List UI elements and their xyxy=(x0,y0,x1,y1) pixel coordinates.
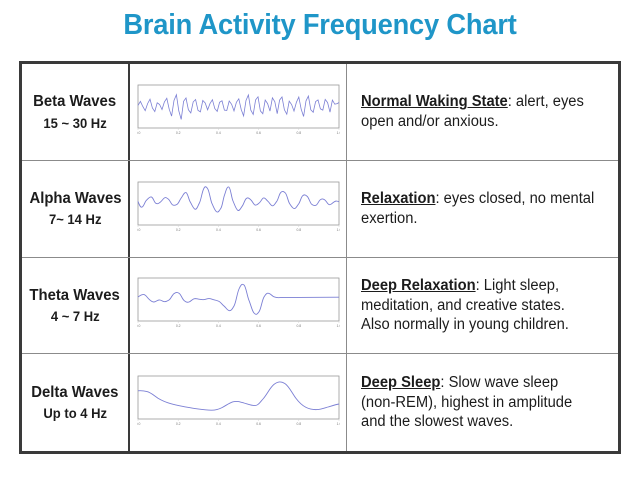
svg-text:0.0: 0.0 xyxy=(137,131,140,135)
svg-text:0.0: 0.0 xyxy=(137,324,140,328)
svg-text:0.8: 0.8 xyxy=(296,131,301,135)
svg-text:0.4: 0.4 xyxy=(216,422,221,426)
waveform-plot-alpha: 0.0 0.2 0.4 0.6 0.8 1.0 xyxy=(137,181,340,237)
svg-text:0.6: 0.6 xyxy=(256,324,261,328)
svg-text:0.8: 0.8 xyxy=(296,324,301,328)
svg-text:1.0: 1.0 xyxy=(336,228,339,232)
waveform-svg: 0.0 0.2 0.4 0.6 0.8 1.0 xyxy=(137,84,340,140)
table-row: Delta Waves Up to 4 Hz 0.0 xyxy=(22,354,618,451)
svg-text:0.6: 0.6 xyxy=(256,228,261,232)
description-lead: Deep Sleep xyxy=(361,374,440,391)
svg-text:0.2: 0.2 xyxy=(175,228,180,232)
description-text: Normal Waking State: alert, eyes open an… xyxy=(361,92,596,131)
description-text: Deep Relaxation: Light sleep, meditation… xyxy=(361,276,596,335)
svg-text:0.2: 0.2 xyxy=(175,422,180,426)
description-cell: Relaxation: eyes closed, no mental exert… xyxy=(347,161,618,257)
wave-name-cell: Alpha Waves 7~ 14 Hz xyxy=(22,161,130,257)
plot-frame xyxy=(138,278,339,321)
plot-xtick-labels: 0.0 0.2 0.4 0.6 0.8 1.0 xyxy=(137,131,340,135)
wave-frequency-label: 15 ~ 30 Hz xyxy=(43,115,106,131)
plot-xtick-labels: 0.0 0.2 0.4 0.6 0.8 1.0 xyxy=(137,324,340,328)
svg-text:0.2: 0.2 xyxy=(175,131,180,135)
svg-text:1.0: 1.0 xyxy=(336,324,339,328)
wave-name-cell: Delta Waves Up to 4 Hz xyxy=(22,354,130,451)
table-row: Alpha Waves 7~ 14 Hz 0.0 xyxy=(22,161,618,258)
description-cell: Deep Sleep: Slow wave sleep (non-REM), h… xyxy=(347,354,618,451)
waveform-plot-cell: 0.0 0.2 0.4 0.6 0.8 1.0 xyxy=(130,354,347,451)
svg-text:0.6: 0.6 xyxy=(256,131,261,135)
wave-frequency-label: 7~ 14 Hz xyxy=(49,211,101,227)
description-lead: Normal Waking State xyxy=(361,93,508,110)
svg-text:0.6: 0.6 xyxy=(256,422,261,426)
wave-frequency-label: Up to 4 Hz xyxy=(43,405,107,421)
plot-frame xyxy=(138,182,339,225)
svg-text:0.4: 0.4 xyxy=(216,131,221,135)
waveform-plot-beta: 0.0 0.2 0.4 0.6 0.8 1.0 xyxy=(137,84,340,140)
svg-text:1.0: 1.0 xyxy=(336,131,339,135)
brain-activity-table: Beta Waves 15 ~ 30 Hz 0.0 xyxy=(19,61,621,454)
wave-frequency-label: 4 ~ 7 Hz xyxy=(51,308,100,324)
waveform-plot-theta: 0.0 0.2 0.4 0.6 0.8 1.0 xyxy=(137,277,340,333)
svg-text:0.4: 0.4 xyxy=(216,324,221,328)
waveform-svg: 0.0 0.2 0.4 0.6 0.8 1.0 xyxy=(137,375,340,431)
wave-name-cell: Beta Waves 15 ~ 30 Hz xyxy=(22,64,130,160)
wave-name-label: Theta Waves xyxy=(30,287,120,305)
description-text: Deep Sleep: Slow wave sleep (non-REM), h… xyxy=(361,373,596,432)
table-row: Theta Waves 4 ~ 7 Hz 0.0 xyxy=(22,258,618,355)
description-lead: Relaxation xyxy=(361,190,435,207)
svg-text:1.0: 1.0 xyxy=(336,422,339,426)
waveform-plot-cell: 0.0 0.2 0.4 0.6 0.8 1.0 xyxy=(130,258,347,354)
page-title: Brain Activity Frequency Chart xyxy=(19,0,621,40)
description-cell: Deep Relaxation: Light sleep, meditation… xyxy=(347,258,618,354)
plot-frame xyxy=(138,376,339,419)
waveform-svg: 0.0 0.2 0.4 0.6 0.8 1.0 xyxy=(137,277,340,333)
svg-text:0.8: 0.8 xyxy=(296,422,301,426)
wave-name-label: Delta Waves xyxy=(31,384,118,402)
waveform-plot-cell: 0.0 0.2 0.4 0.6 0.8 1.0 xyxy=(130,64,347,160)
plot-xtick-labels: 0.0 0.2 0.4 0.6 0.8 1.0 xyxy=(137,228,340,232)
svg-text:0.4: 0.4 xyxy=(216,228,221,232)
plot-frame xyxy=(138,85,339,128)
svg-text:0.0: 0.0 xyxy=(137,422,140,426)
waveform-plot-delta: 0.0 0.2 0.4 0.6 0.8 1.0 xyxy=(137,375,340,431)
svg-text:0.2: 0.2 xyxy=(175,324,180,328)
table-row: Beta Waves 15 ~ 30 Hz 0.0 xyxy=(22,64,618,161)
description-cell: Normal Waking State: alert, eyes open an… xyxy=(347,64,618,160)
waveform-plot-cell: 0.0 0.2 0.4 0.6 0.8 1.0 xyxy=(130,161,347,257)
description-lead: Deep Relaxation xyxy=(361,277,476,294)
plot-xtick-labels: 0.0 0.2 0.4 0.6 0.8 1.0 xyxy=(137,422,340,426)
svg-text:0.8: 0.8 xyxy=(296,228,301,232)
svg-text:0.0: 0.0 xyxy=(137,228,140,232)
wave-name-label: Beta Waves xyxy=(33,93,116,111)
waveform-svg: 0.0 0.2 0.4 0.6 0.8 1.0 xyxy=(137,181,340,237)
description-text: Relaxation: eyes closed, no mental exert… xyxy=(361,189,596,228)
wave-name-label: Alpha Waves xyxy=(29,190,121,208)
wave-name-cell: Theta Waves 4 ~ 7 Hz xyxy=(22,258,130,354)
